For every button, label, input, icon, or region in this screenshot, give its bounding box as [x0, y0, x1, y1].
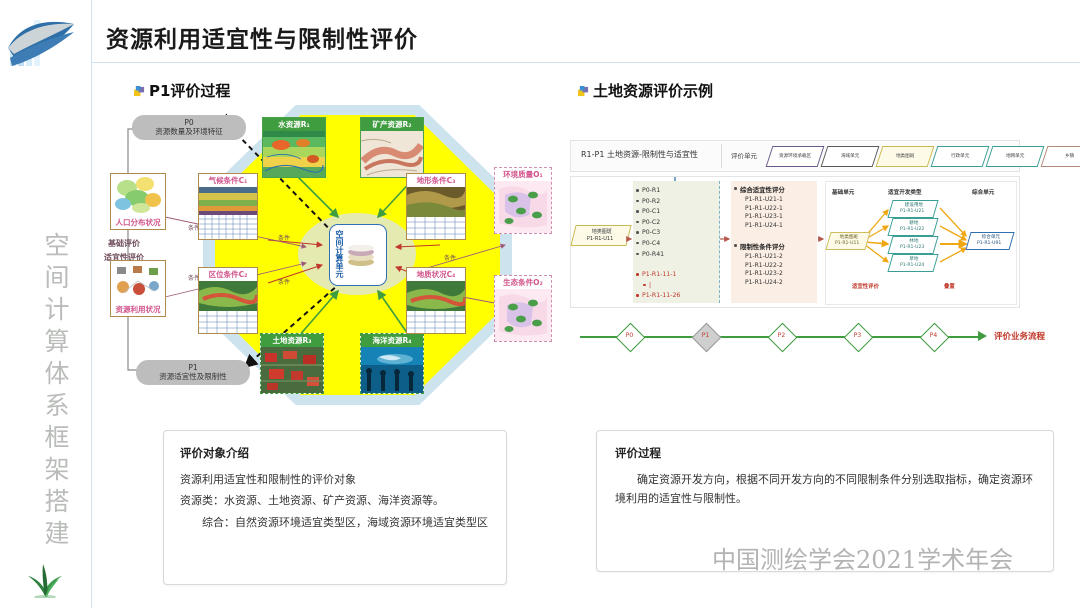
suitability-flow-column: 基础单元 适宜开发类型 综合单元 地类图斑 P1 [825, 181, 1017, 305]
section-heading-left: P1评价过程 [134, 80, 230, 101]
resource-card-land-label: 土地资源R₃ [261, 334, 323, 347]
condition-card-resource-usage: 资源利用状况 [110, 260, 166, 317]
eval-block-1-item: P1-R1-U24-2 [745, 279, 817, 286]
section-heading-left-label: P1评价过程 [149, 82, 230, 100]
climate-condition-thumbnail [199, 187, 257, 239]
edge-label-4: 条件 [444, 253, 456, 262]
list-item-red-sep: | [649, 282, 719, 289]
eval-block-1-item: P1-R1-U23-2 [745, 270, 817, 277]
diagram-main-panel: 地类图斑 P1-R1-U11 P0-R1 P0-R2 P0-C1 P0-C2 P… [570, 176, 1020, 308]
section-heading-right: 土地资源评价示例 [578, 80, 713, 101]
list-item: P0-C2 [642, 219, 719, 226]
geology-condition-thumbnail [407, 281, 465, 333]
phase-p0-code: P0 [139, 118, 239, 127]
tab-4-label: 地网单元 [1006, 154, 1024, 159]
unit-tab-row: 资源环境承载区 海域单元 地类图斑 行政单元 地网单元 乡镇 [769, 146, 1080, 166]
resource-card-water: 水资源R₁ [262, 117, 326, 178]
tab-2-label: 地类图斑 [896, 154, 914, 159]
footer-brand: 中国测绘学会2021学术年会 [712, 540, 1013, 575]
eval-block-0-title: 综合适宜性评分 [740, 185, 817, 194]
tab-1-label: 海域单元 [841, 154, 859, 159]
condition-card-climate: 气候条件C₁ [198, 173, 258, 240]
header-divider [92, 62, 1080, 63]
eval-block-1-item: P1-R1-U22-2 [745, 262, 817, 269]
condition-card-env-quality: 环境质量O₁ [494, 167, 552, 234]
flow-source-line2: P1-R1-U11 [828, 241, 866, 247]
flow-type-1: 耕地 P1-R1-U22 [887, 218, 938, 236]
location-condition-thumbnail [199, 281, 257, 333]
tab-5-label: 乡镇 [1065, 154, 1074, 159]
list-item-red: P1-R1-11-1 [642, 271, 719, 278]
left-textbox: 评价对象介绍 资源利用适宜性和限制性的评价对象 资源类：水资源、土地资源、矿产资… [163, 430, 507, 585]
tab-3[interactable]: 行政单元 [931, 146, 990, 167]
page-title: 资源利用适宜性与限制性评价 [106, 20, 418, 54]
condition-card-population: 人口分布状况 [110, 173, 166, 230]
p0-indicator-list: P0-R1 P0-R2 P0-C1 P0-C2 P0-C3 P0-C4 P0-R… [633, 181, 720, 303]
list-item-red: P1-R1-11-26 [642, 292, 719, 299]
evaluation-unit-label: 评价单元 [731, 150, 757, 160]
flow-result-line2: P1-R1-U91 [968, 241, 1010, 247]
list-item: P0-C4 [642, 240, 719, 247]
flow-tag-left: 适宜性评价 [852, 282, 879, 290]
flow-type-1-line2: P1-R1-U22 [890, 227, 934, 233]
condition-card-climate-label: 气候条件C₁ [199, 174, 257, 187]
resource-card-land: 土地资源R₃ [260, 333, 324, 394]
timeline-arrow-icon [978, 331, 987, 341]
section-heading-right-label: 土地资源评价示例 [593, 82, 713, 100]
condition-card-geology: 地质状况C₄ [406, 267, 466, 334]
phase-p0-label: 资源数量及环境特征 [139, 127, 239, 136]
tab-2[interactable]: 地类图斑 [876, 146, 935, 167]
list-item: P0-R2 [642, 198, 719, 205]
eval-block-0-item: P1-R1-U23-1 [745, 213, 817, 220]
tab-3-label: 行政单元 [951, 154, 969, 159]
list-item: P0-C3 [642, 229, 719, 236]
diamond-bullet-icon [134, 86, 145, 97]
flow-type-0: 建设用地 P1-R1-U21 [887, 200, 938, 218]
eval-block-1-title: 限制性条件评分 [740, 242, 817, 251]
flow-source-box: 地类图斑 P1-R1-U11 [825, 232, 870, 250]
diagram-header-bar: R1-P1 土地资源-限制性与适宜性 评价单元 资源环境承载区 海域单元 地类图… [570, 140, 1020, 172]
core-node-label: 空间计算单元 [335, 230, 343, 278]
evaluation-scores-column: 综合适宜性评分 P1-R1-U21-1 P1-R1-U22-1 P1-R1-U2… [731, 181, 817, 303]
timeline-node-p1-label: P1 [696, 332, 715, 339]
flow-tag-right: 叠置 [944, 282, 955, 290]
side-note-basic-eval: 基础评价 [108, 238, 140, 250]
sidebar-divider [91, 0, 92, 608]
flow-type-3: 草地 P1-R1-U24 [887, 254, 938, 272]
resource-card-ocean: 海洋资源R₄ [360, 333, 424, 394]
flow-result-box: 综合单元 P1-R1-U91 [965, 232, 1014, 250]
header-separator [721, 144, 722, 168]
flow-type-3-line2: P1-R1-U24 [890, 263, 934, 269]
land-resource-example-diagram: R1-P1 土地资源-限制性与适宜性 评价单元 资源环境承载区 海域单元 地类图… [570, 140, 1040, 355]
condition-card-ecology-label: 生态条件O₂ [495, 276, 551, 289]
environment-quality-thumbnail [495, 181, 551, 233]
left-textbox-line-1: 资源类：水资源、土地资源、矿产资源、海洋资源等。 [180, 491, 490, 510]
timeline-node-p2-label: P2 [772, 332, 791, 339]
tab-1[interactable]: 海域单元 [821, 146, 880, 167]
grass-icon [22, 556, 68, 598]
right-textbox-line-0: 确定资源开发方向，根据不同开发方向的不同限制条件分别选取指标，确定资源环境利用的… [615, 470, 1035, 509]
wave-chart-logo [6, 14, 78, 70]
eval-block-0-item: P1-R1-U21-1 [745, 196, 817, 203]
left-textbox-line-0: 资源利用适宜性和限制性的评价对象 [180, 470, 490, 489]
left-textbox-line-2: 综合：自然资源环境适宜类型区，海域资源环境适宜类型区 [180, 513, 490, 532]
list-item: P0-C1 [642, 208, 719, 215]
mineral-resource-thumbnail [361, 131, 423, 177]
sidebar-vertical-title: 空间计算体系框架搭建 [24, 232, 68, 552]
land-resource-thumbnail [261, 347, 323, 393]
condition-card-env-quality-label: 环境质量O₁ [495, 168, 551, 181]
tab-0[interactable]: 资源环境承载区 [766, 146, 825, 167]
timeline-node-p3-label: P3 [848, 332, 867, 339]
process-timeline: P0 P1 P2 P3 P4 评价业务流程 [580, 322, 1018, 352]
left-textbox-title: 评价对象介绍 [180, 445, 490, 461]
flow-type-0-line2: P1-R1-U21 [890, 209, 934, 215]
diagram-header-title: R1-P1 土地资源-限制性与适宜性 [581, 149, 698, 160]
flow-type-2: 林地 P1-R1-U23 [887, 236, 938, 254]
core-node-spatial-unit: 空间计算单元 [329, 224, 387, 286]
resource-card-mineral: 矿产资源R₂ [360, 117, 424, 178]
right-textbox-title: 评价过程 [615, 445, 1035, 461]
p1-evaluation-diagram: P0 资源数量及环境特征 P1 资源适宜性及限制性 基础评价 适宜性评价 条件 … [110, 105, 550, 410]
list-item: P0-R41 [642, 251, 719, 258]
layer-stack-icon [346, 245, 376, 267]
resource-usage-thumbnail [111, 261, 165, 303]
condition-card-population-label: 人口分布状况 [111, 216, 165, 229]
resource-card-mineral-label: 矿产资源R₂ [361, 118, 423, 131]
sidebar: 空间计算体系框架搭建 [0, 0, 92, 608]
edge-label-3: 条件 [278, 277, 290, 286]
phase-p1-label: 资源适宜性及限制性 [143, 372, 243, 381]
phase-p0-pill: P0 资源数量及环境特征 [132, 115, 246, 140]
condition-card-terrain: 地形条件C₃ [406, 173, 466, 240]
eval-block-0-item: P1-R1-U24-1 [745, 222, 817, 229]
resource-card-ocean-label: 海洋资源R₄ [361, 334, 423, 347]
condition-card-location: 区位条件C₂ [198, 267, 258, 334]
population-distribution-thumbnail [111, 174, 165, 216]
water-resource-thumbnail [263, 131, 325, 177]
list-item: P0-R1 [642, 187, 719, 194]
phase-p1-pill: P1 资源适宜性及限制性 [136, 360, 250, 385]
condition-card-resource-usage-label: 资源利用状况 [111, 303, 165, 316]
tab-4[interactable]: 地网单元 [986, 146, 1045, 167]
timeline-node-p4-label: P4 [924, 332, 943, 339]
condition-card-terrain-label: 地形条件C₃ [407, 174, 465, 187]
flow-type-2-line2: P1-R1-U23 [890, 245, 934, 251]
timeline-node-p0-label: P0 [620, 332, 639, 339]
timeline-title: 评价业务流程 [994, 330, 1045, 342]
phase-p1-code: P1 [143, 363, 243, 372]
eval-block-1-item: P1-R1-U21-2 [745, 253, 817, 260]
condition-card-geology-label: 地质状况C₄ [407, 268, 465, 281]
terrain-condition-thumbnail [407, 187, 465, 239]
ocean-resource-thumbnail [361, 347, 423, 393]
eval-block-0-item: P1-R1-U22-1 [745, 205, 817, 212]
condition-card-ecology: 生态条件O₂ [494, 275, 552, 342]
tab-5[interactable]: 乡镇 [1041, 146, 1080, 167]
tab-0-label: 资源环境承载区 [779, 154, 811, 159]
ecology-condition-thumbnail [495, 289, 551, 341]
condition-card-location-label: 区位条件C₂ [199, 268, 257, 281]
diamond-bullet-icon [578, 86, 589, 97]
edge-label-2: 条件 [278, 233, 290, 242]
resource-card-water-label: 水资源R₁ [263, 118, 325, 131]
